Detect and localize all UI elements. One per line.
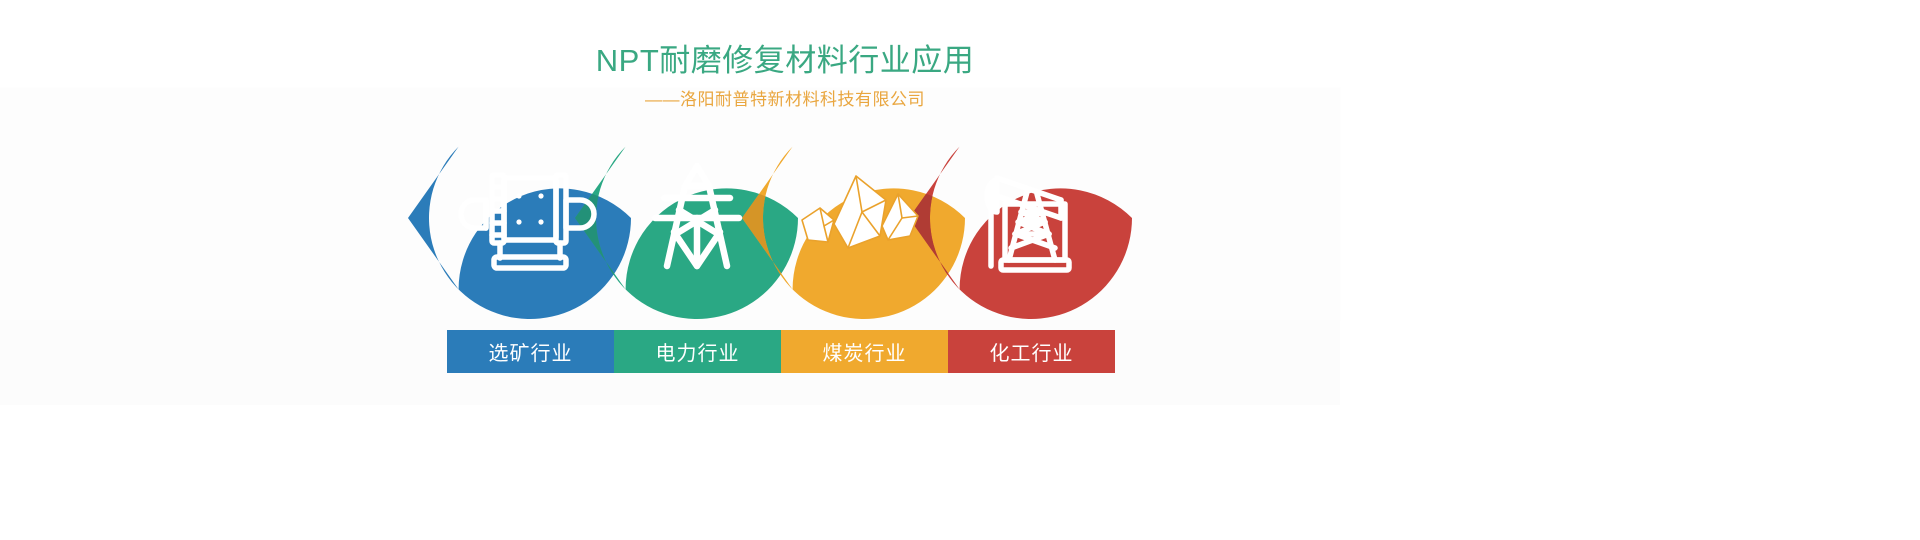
power-transmission-tower-icon (655, 166, 739, 266)
industry-label-bar: 选矿行业 电力行业 煤炭行业 化工行业 (447, 330, 1115, 373)
label-tab-text: 选矿行业 (489, 337, 573, 366)
label-tab-coal[interactable]: 煤炭行业 (781, 330, 948, 373)
petal-group (0, 0, 1920, 540)
label-tab-text: 电力行业 (656, 337, 740, 366)
label-tab-power[interactable]: 电力行业 (614, 330, 781, 373)
label-tab-chemical[interactable]: 化工行业 (948, 330, 1115, 373)
label-tab-mineral-processing[interactable]: 选矿行业 (447, 330, 614, 373)
label-tab-text: 化工行业 (990, 337, 1074, 366)
coal-chunks-icon (802, 176, 918, 248)
label-tab-text: 煤炭行业 (823, 337, 907, 366)
petal-blue[interactable] (408, 147, 631, 319)
infographic-slide: NPT耐磨修复材料行业应用 ——洛阳耐普特新材料科技有限公司 (0, 0, 1920, 540)
